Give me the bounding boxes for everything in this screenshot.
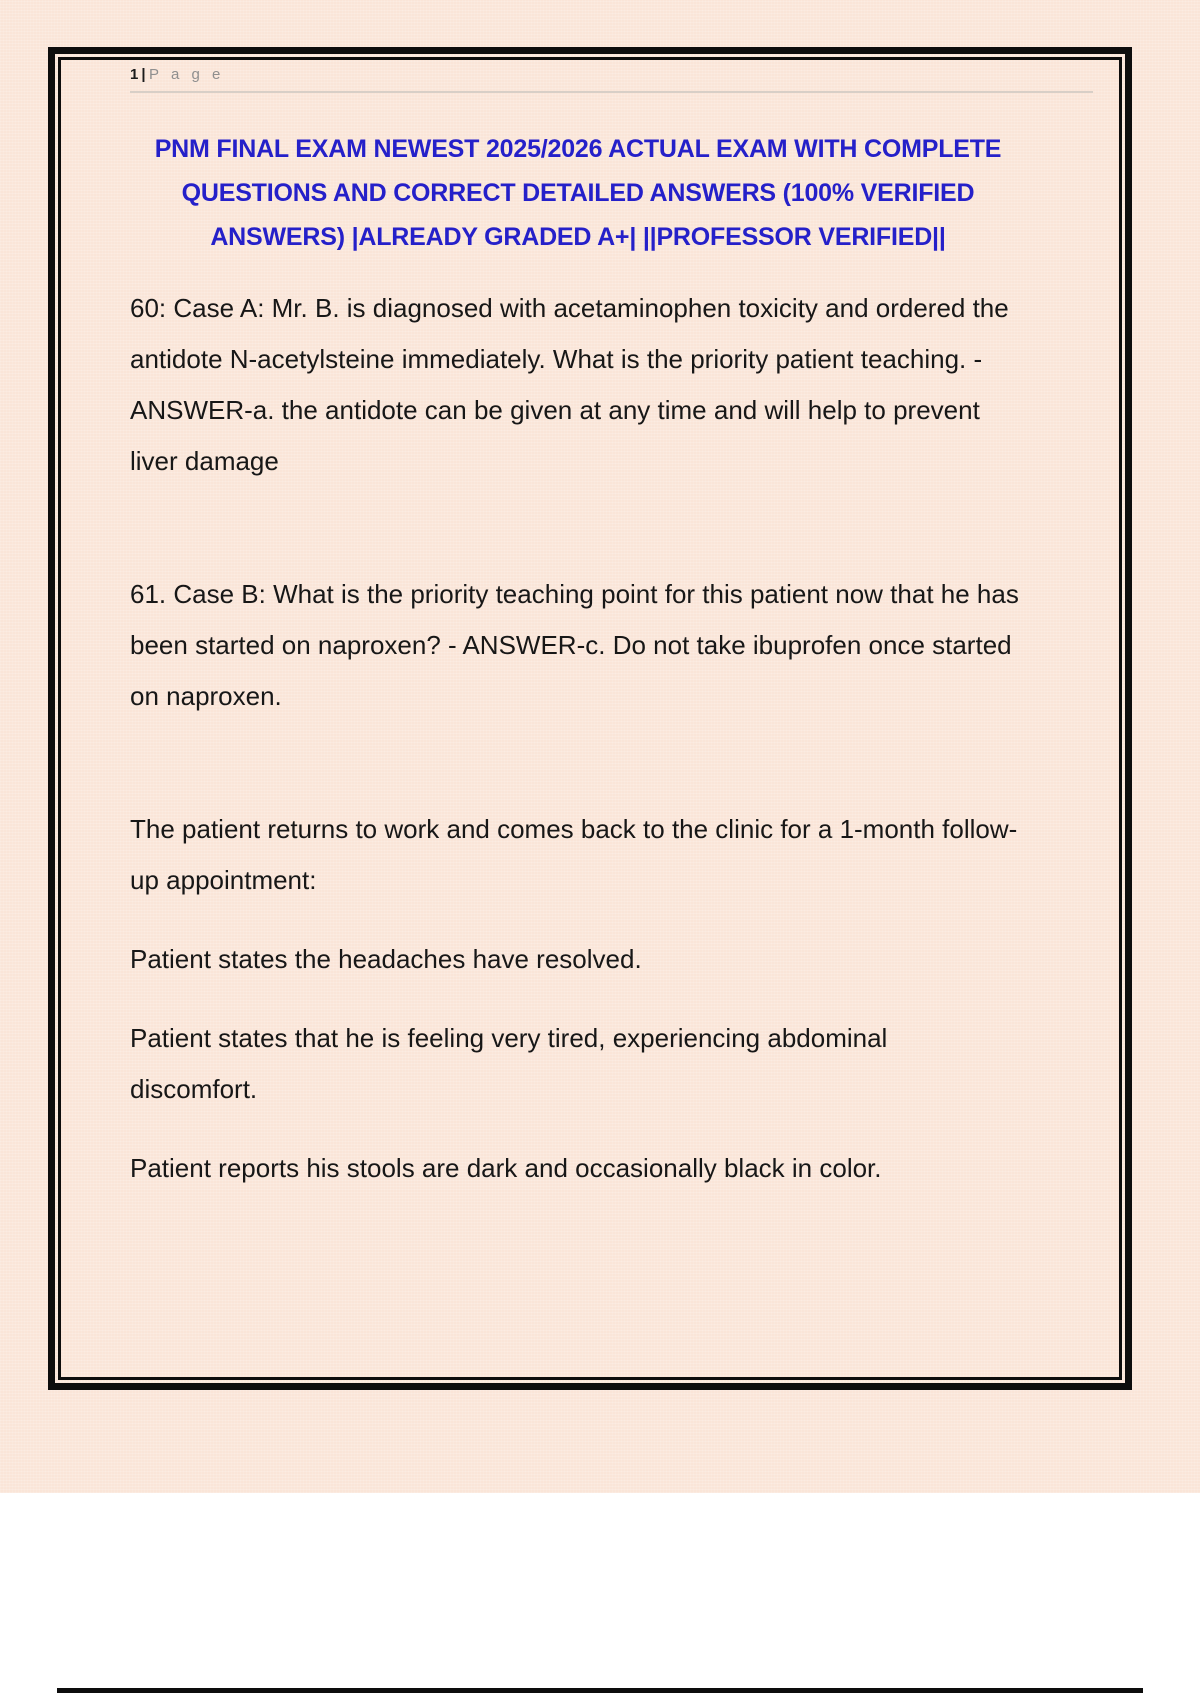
document-body: 60: Case A: Mr. B. is diagnosed with ace…	[130, 283, 1020, 1194]
paragraph-spacer	[130, 1115, 1020, 1143]
paragraph-finding-3: Patient reports his stools are dark and …	[130, 1143, 1020, 1194]
page-header-label: P a g e	[149, 66, 224, 83]
paragraph-question-60: 60: Case A: Mr. B. is diagnosed with ace…	[130, 283, 1020, 487]
paragraph-followup-intro: The patient returns to work and comes ba…	[130, 804, 1020, 906]
paragraph-spacer	[130, 722, 1020, 804]
paragraph-question-61: 61. Case B: What is the priority teachin…	[130, 569, 1020, 722]
paragraph-spacer	[130, 906, 1020, 934]
paragraph-spacer	[130, 487, 1020, 569]
page-header-separator: |	[138, 66, 149, 83]
next-page-top-rule	[57, 1688, 1143, 1693]
document-title: PNM FINAL EXAM NEWEST 2025/2026 ACTUAL E…	[138, 127, 1018, 259]
paragraph-finding-1: Patient states the headaches have resolv…	[130, 934, 1020, 985]
paragraph-finding-2: Patient states that he is feeling very t…	[130, 1013, 1020, 1115]
document-page: 1|P a g e PNM FINAL EXAM NEWEST 2025/202…	[0, 0, 1200, 1493]
paragraph-spacer	[130, 985, 1020, 1013]
page-header: 1|P a g e	[130, 66, 1093, 93]
page-content: 1|P a g e PNM FINAL EXAM NEWEST 2025/202…	[130, 66, 1095, 1194]
